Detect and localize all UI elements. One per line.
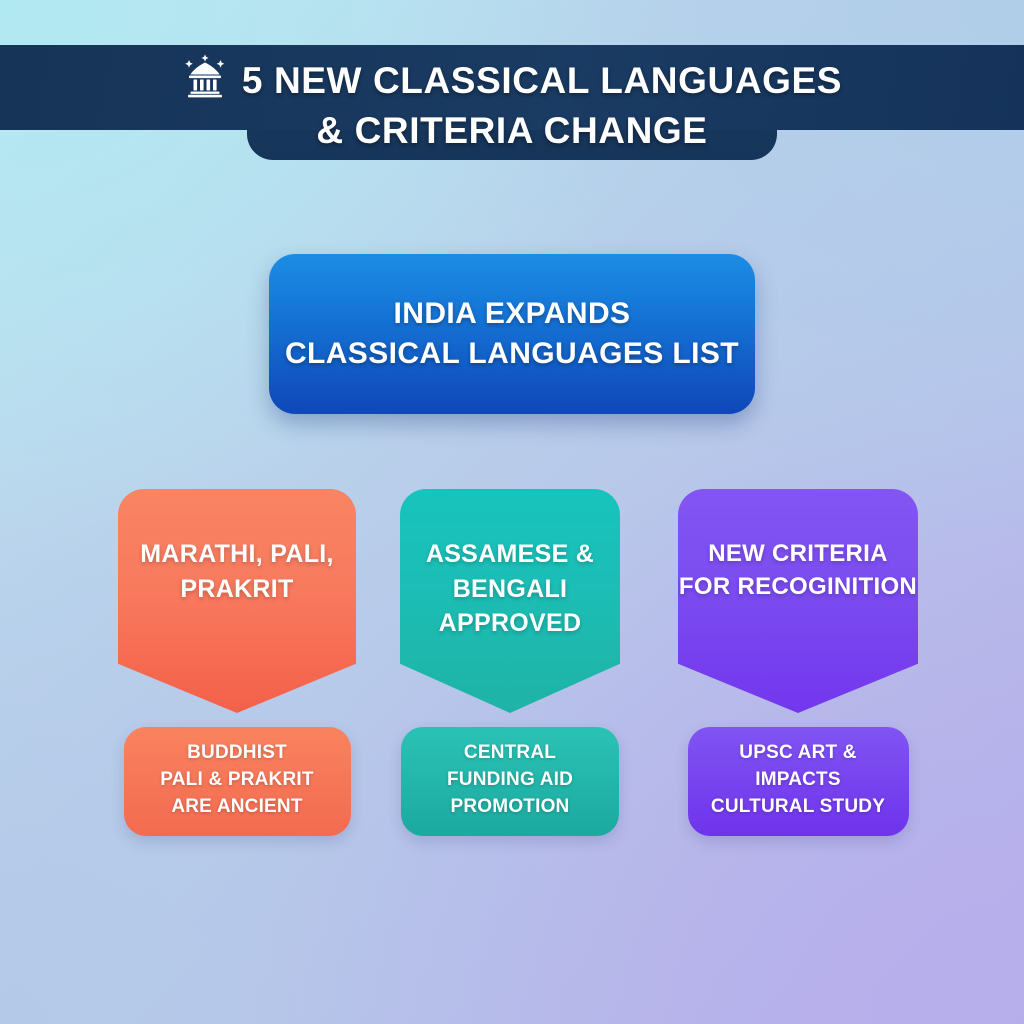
header-banner [0, 45, 1024, 130]
detail-pill-label: UPSC ART & IMPACTS CULTURAL STUDY [696, 740, 901, 821]
column-marathi-pali-prakrit: MARATHI, PALI, PRAKRIT BUDDHIST PALI & P… [118, 489, 356, 836]
detail-pill-new-criteria-for-recognition: UPSC ART & IMPACTS CULTURAL STUDY [688, 727, 909, 836]
detail-pill-marathi-pali-prakrit: BUDDHIST PALI & PRAKRIT ARE ANCIENT [124, 727, 351, 836]
header-banner-tab [247, 130, 777, 160]
shield-card-label: MARATHI, PALI, PRAKRIT [134, 537, 340, 606]
infographic-canvas: 5 NEW CLASSICAL LANGUAGES & CRITERIA CHA… [0, 0, 1024, 1024]
main-statement-box: INDIA EXPANDS CLASSICAL LANGUAGES LIST [269, 254, 755, 414]
shield-card-label: NEW CRITERIA FOR RECOGINITION [679, 537, 917, 603]
main-statement-text: INDIA EXPANDS CLASSICAL LANGUAGES LIST [285, 294, 739, 373]
shield-card-new-criteria-for-recognition: NEW CRITERIA FOR RECOGINITION [678, 489, 918, 713]
shield-card-assamese-bengali-approved: ASSAMESE & BENGALI APPROVED [400, 489, 620, 713]
column-assamese-bengali-approved: ASSAMESE & BENGALI APPROVED CENTRAL FUND… [400, 489, 620, 836]
detail-pill-label: CENTRAL FUNDING AID PROMOTION [409, 740, 611, 821]
detail-pill-label: BUDDHIST PALI & PRAKRIT ARE ANCIENT [132, 740, 343, 821]
detail-pill-assamese-bengali-approved: CENTRAL FUNDING AID PROMOTION [401, 727, 619, 836]
card-columns: MARATHI, PALI, PRAKRIT BUDDHIST PALI & P… [0, 489, 1024, 819]
shield-card-marathi-pali-prakrit: MARATHI, PALI, PRAKRIT [118, 489, 356, 713]
shield-card-label: ASSAMESE & BENGALI APPROVED [420, 537, 600, 641]
column-new-criteria-for-recognition: NEW CRITERIA FOR RECOGINITION UPSC ART &… [678, 489, 918, 836]
